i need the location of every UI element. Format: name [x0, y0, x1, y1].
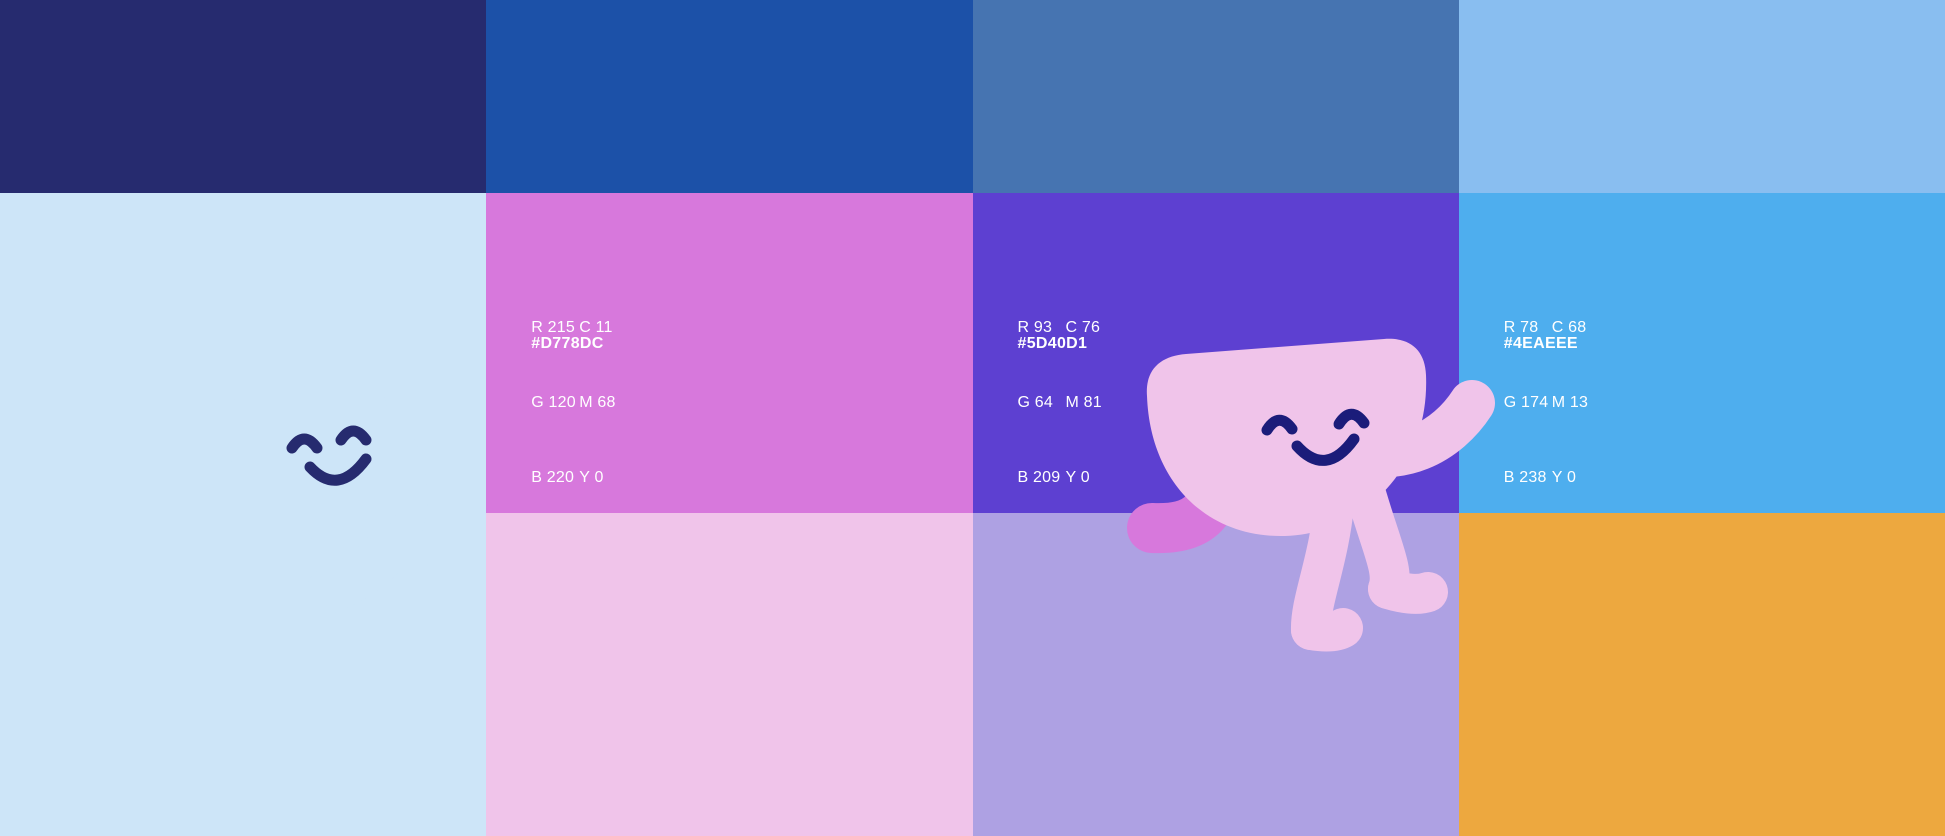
color-palette-board: R 215 C 11 G 120 M 68 B 220 Y 0 K 0	[0, 0, 1945, 836]
swatch-bottom-2[interactable]	[973, 513, 1459, 836]
spec-line-b: B 220 Y 0	[531, 465, 615, 490]
spec-b-value: B 220	[531, 465, 579, 490]
hex-label-2: #5D40D1	[1018, 335, 1088, 353]
spec-line-g: G 64 M 81	[1018, 390, 1102, 415]
swatch-mid-1[interactable]: R 215 C 11 G 120 M 68 B 220 Y 0 K 0	[486, 193, 972, 513]
swatch-pale-blue-block[interactable]	[0, 193, 486, 836]
spec-g-value: G 174	[1504, 390, 1552, 415]
spec-m-value: M 13	[1552, 390, 1588, 415]
swatch-top-3[interactable]	[973, 0, 1459, 193]
swatch-mid-2[interactable]: R 93 C 76 G 64 M 81 B 209 Y 0 K 0	[973, 193, 1459, 513]
spec-g-value: G 64	[1018, 390, 1066, 415]
spec-m-value: M 81	[1066, 390, 1102, 415]
spec-line-g: G 120 M 68	[531, 390, 615, 415]
spec-y-value: Y 0	[1552, 465, 1576, 490]
spec-b-value: B 209	[1018, 465, 1066, 490]
swatch-grid: R 215 C 11 G 120 M 68 B 220 Y 0 K 0	[0, 0, 1945, 836]
swatch-bottom-3[interactable]	[1459, 513, 1945, 836]
swatch-top-4[interactable]	[1459, 0, 1945, 193]
swatch-top-1[interactable]	[0, 0, 486, 193]
swatch-top-2[interactable]	[486, 0, 972, 193]
spec-g-value: G 120	[531, 390, 579, 415]
swatch-mid-3[interactable]: R 78 C 68 G 174 M 13 B 238 Y 0 K 0	[1459, 193, 1945, 513]
spec-line-b: B 238 Y 0	[1504, 465, 1588, 490]
spec-y-value: Y 0	[1066, 465, 1090, 490]
spec-y-value: Y 0	[579, 465, 603, 490]
spec-m-value: M 68	[579, 390, 615, 415]
hex-label-3: #4EAEEE	[1504, 335, 1578, 353]
spec-line-g: G 174 M 13	[1504, 390, 1588, 415]
spec-b-value: B 238	[1504, 465, 1552, 490]
swatch-bottom-1[interactable]	[486, 513, 972, 836]
spec-line-b: B 209 Y 0	[1018, 465, 1102, 490]
hex-label-1: #D778DC	[531, 335, 603, 353]
